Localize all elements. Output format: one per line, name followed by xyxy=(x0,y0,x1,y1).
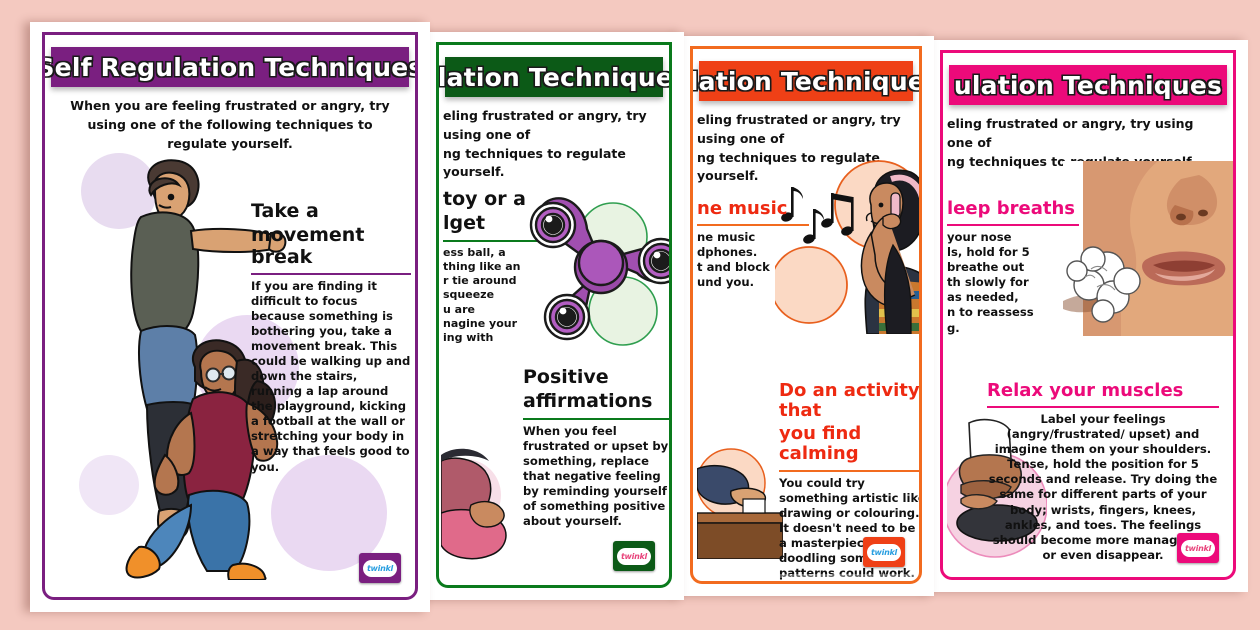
poster-green-title: ulation Techniques xyxy=(445,57,663,97)
section-rule xyxy=(697,224,809,226)
poster-purple-frame: Self Regulation Techniques When you are … xyxy=(42,32,418,600)
section-heading-line2: affirmations xyxy=(523,391,671,415)
section-heading: ne music xyxy=(697,199,809,222)
section-heading: Do an activity that xyxy=(779,381,922,424)
poster-orange-frame: ulation Techniques eling frustrated or a… xyxy=(690,46,922,584)
twinkl-logo[interactable]: twinkl xyxy=(863,537,905,567)
twinkl-cloud-icon: twinkl xyxy=(1181,540,1215,557)
twinkl-wordmark: twinkl xyxy=(367,564,393,573)
poster-purple-section-1: Take a movement break If you are finding… xyxy=(251,201,411,475)
section-heading: Positive xyxy=(523,367,671,391)
intro-line-2: ng techniques to regulate yourself. xyxy=(443,145,659,183)
twinkl-wordmark: twinkl xyxy=(621,552,647,561)
section-rule xyxy=(947,224,1079,226)
section-heading: Take a xyxy=(251,201,411,225)
section-rule xyxy=(523,418,671,420)
section-body: If you are finding it difficult to focus… xyxy=(251,279,411,475)
poster-set: ulation Techniques eling frustrated or a… xyxy=(0,0,1260,630)
poster-purple-banner-area: Self Regulation Techniques xyxy=(51,41,409,87)
fidget-spinner-illustration xyxy=(509,193,672,353)
poster-pink-section-1: leep breaths your nose ls, hold for 5 br… xyxy=(947,199,1079,336)
section-heading-line2: movement break xyxy=(251,225,411,271)
poster-orange[interactable]: ulation Techniques eling frustrated or a… xyxy=(678,36,934,596)
poster-green-frame: ulation Techniques eling frustrated or a… xyxy=(436,42,672,588)
section-body: You could try something artistic like dr… xyxy=(779,476,922,584)
twinkl-cloud-icon: twinkl xyxy=(363,560,397,577)
poster-green-banner-area: ulation Techniques xyxy=(445,51,663,97)
poster-purple[interactable]: Self Regulation Techniques When you are … xyxy=(30,22,430,612)
poster-pink-banner-area: ulation Techniques xyxy=(949,59,1227,105)
intro-line-1: eling frustrated or angry, try using one… xyxy=(443,107,659,145)
section-rule xyxy=(251,273,411,275)
intro-line-1: eling frustrated or angry, try using one… xyxy=(697,111,909,149)
twinkl-logo[interactable]: twinkl xyxy=(1177,533,1219,563)
face-blowing-breath-illustration xyxy=(1063,161,1236,336)
poster-orange-section-1: ne music ne music dphones. t and block u… xyxy=(697,199,809,290)
section-body: ne music dphones. t and block und you. xyxy=(697,230,809,290)
section-body: When you feel frustrated or upset by som… xyxy=(523,424,671,529)
poster-pink-title: ulation Techniques xyxy=(949,65,1227,105)
twinkl-logo[interactable]: twinkl xyxy=(359,553,401,583)
girl-meditating-illustration xyxy=(441,435,525,565)
section-rule xyxy=(779,470,922,472)
section-heading-line2: you find calming xyxy=(779,424,922,467)
poster-orange-banner-area: ulation Techniques xyxy=(699,55,913,101)
person-drawing-at-desk-illustration xyxy=(697,429,783,559)
section-heading: leep breaths xyxy=(947,199,1079,222)
twinkl-wordmark: twinkl xyxy=(871,548,897,557)
section-body: your nose ls, hold for 5 breathe out th … xyxy=(947,230,1079,335)
poster-orange-title: ulation Techniques xyxy=(699,61,913,101)
poster-pink[interactable]: ulation Techniques eling frustrated or a… xyxy=(928,40,1248,592)
section-heading: Relax your muscles xyxy=(987,381,1219,404)
section-rule xyxy=(987,406,1219,408)
twinkl-wordmark: twinkl xyxy=(1185,544,1211,553)
twinkl-logo[interactable]: twinkl xyxy=(613,541,655,571)
twinkl-cloud-icon: twinkl xyxy=(867,544,901,561)
poster-purple-title: Self Regulation Techniques xyxy=(51,47,409,87)
poster-green-section-2: Positive affirmations When you feel frus… xyxy=(523,367,671,529)
poster-green-intro: eling frustrated or angry, try using one… xyxy=(439,107,669,182)
twinkl-cloud-icon: twinkl xyxy=(617,548,651,565)
poster-pink-frame: ulation Techniques eling frustrated or a… xyxy=(940,50,1236,580)
poster-purple-intro: When you are feeling frustrated or angry… xyxy=(45,97,415,153)
poster-green[interactable]: ulation Techniques eling frustrated or a… xyxy=(424,32,684,600)
intro-line-1: eling frustrated or angry, try using one… xyxy=(947,115,1223,153)
